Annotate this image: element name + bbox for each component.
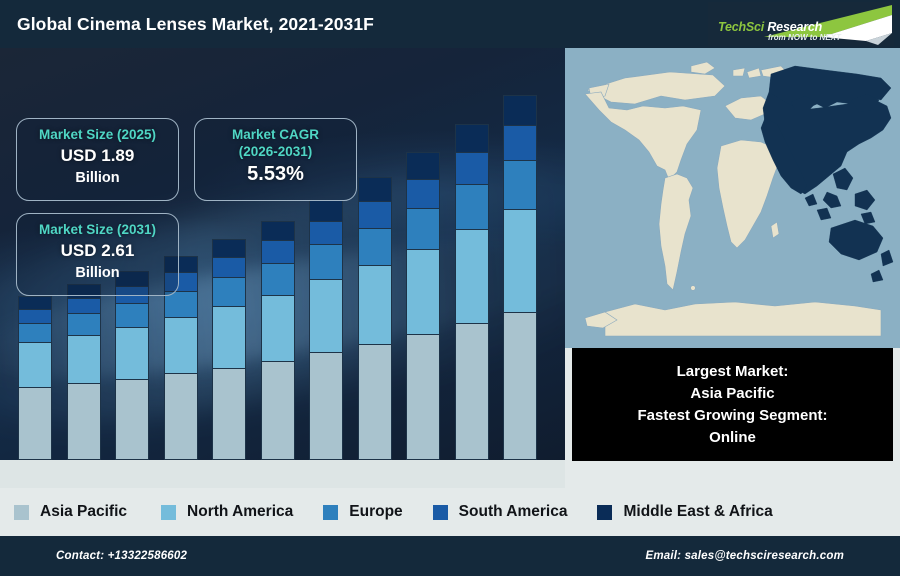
bar-segment-europe[interactable] [503, 160, 537, 209]
bar-2022[interactable] [67, 284, 101, 460]
bar-2025[interactable] [212, 239, 246, 460]
bar-segment-europe[interactable] [455, 184, 489, 229]
bar-segment-south-america[interactable] [309, 221, 343, 245]
footer-contact[interactable]: Contact: +13322586602 [56, 550, 187, 562]
bar-2030F[interactable] [455, 124, 489, 460]
bar-2027F[interactable] [309, 200, 343, 460]
legend-item-europe[interactable]: Europe [323, 503, 402, 521]
bar-segment-north-america[interactable] [261, 295, 295, 361]
bar-segment-south-america[interactable] [455, 152, 489, 184]
bar-segment-asia-pacific[interactable] [261, 361, 295, 460]
bar-segment-asia-pacific[interactable] [406, 334, 440, 460]
bar-segment-north-america[interactable] [212, 306, 246, 368]
legend-swatch-icon [433, 505, 448, 520]
bar-segment-middle-east-africa[interactable] [455, 124, 489, 152]
bar-segment-middle-east-africa[interactable] [406, 152, 440, 179]
stat-label: Market CAGR [195, 126, 356, 143]
legend-item-asia-pacific[interactable]: Asia Pacific [14, 503, 127, 521]
bar-segment-asia-pacific[interactable] [164, 373, 198, 460]
bar-segment-europe[interactable] [18, 323, 52, 343]
bar-segment-asia-pacific[interactable] [309, 352, 343, 460]
stat-value: USD 2.61 [17, 238, 178, 263]
bar-segment-north-america[interactable] [115, 327, 149, 379]
info-largest-market-value: Asia Pacific [690, 383, 774, 404]
bar-segment-north-america[interactable] [309, 279, 343, 352]
legend-label: North America [187, 503, 293, 521]
bar-segment-middle-east-africa[interactable] [309, 200, 343, 221]
bar-segment-north-america[interactable] [455, 229, 489, 323]
bar-segment-south-america[interactable] [503, 125, 537, 160]
bar-segment-north-america[interactable] [406, 249, 440, 334]
bar-segment-middle-east-africa[interactable] [18, 296, 52, 309]
bar-segment-asia-pacific[interactable] [358, 344, 392, 460]
bar-segment-europe[interactable] [358, 228, 392, 266]
info-largest-market-label: Largest Market: [677, 361, 789, 382]
bar-segment-south-america[interactable] [406, 179, 440, 208]
bar-segment-europe[interactable] [261, 263, 295, 295]
legend-swatch-icon [597, 505, 612, 520]
x-axis-strip [0, 460, 565, 488]
legend-label: Europe [349, 503, 402, 521]
bar-segment-middle-east-africa[interactable] [261, 221, 295, 241]
legend-swatch-icon [14, 505, 29, 520]
bar-segment-north-america[interactable] [503, 209, 537, 311]
logo-wordmark: TechSci Research [718, 20, 822, 34]
bar-2029F[interactable] [406, 152, 440, 460]
legend-swatch-icon [161, 505, 176, 520]
info-fastest-segment-label: Fastest Growing Segment: [637, 405, 827, 426]
bar-segment-asia-pacific[interactable] [18, 387, 52, 460]
stat-card-market-size-2025: Market Size (2025) USD 1.89 Billion [16, 118, 179, 201]
logo-text-tech: TechSci [718, 20, 764, 34]
bar-segment-north-america[interactable] [164, 317, 198, 373]
chart-legend: Asia PacificNorth AmericaEuropeSouth Ame… [0, 488, 900, 536]
page-title: Global Cinema Lenses Market, 2021-2031F [17, 14, 374, 35]
stat-sublabel: (2026-2031) [195, 143, 356, 160]
logo-tagline: from NOW to NEXT [768, 33, 841, 42]
bar-segment-asia-pacific[interactable] [455, 323, 489, 460]
chart-panel: 202120222023202420252026E2027F2028F2029F… [0, 48, 565, 488]
bar-2028F[interactable] [358, 177, 392, 460]
brand-logo[interactable]: TechSci Research from NOW to NEXT [708, 2, 894, 46]
legend-label: Middle East & Africa [623, 503, 772, 521]
info-box-largest-market: Largest Market: Asia Pacific Fastest Gro… [572, 348, 893, 461]
bar-segment-south-america[interactable] [261, 240, 295, 262]
bar-segment-europe[interactable] [309, 244, 343, 279]
stat-card-market-size-2031: Market Size (2031) USD 2.61 Billion [16, 213, 179, 296]
bar-segment-asia-pacific[interactable] [503, 312, 537, 460]
bar-segment-south-america[interactable] [67, 298, 101, 313]
stat-value: USD 1.89 [17, 143, 178, 168]
bar-2021[interactable] [18, 296, 52, 460]
bar-2026E[interactable] [261, 221, 295, 460]
stat-label: Market Size (2025) [17, 126, 178, 143]
bar-segment-middle-east-africa[interactable] [503, 95, 537, 126]
bar-segment-south-america[interactable] [18, 309, 52, 323]
stat-card-market-cagr: Market CAGR (2026-2031) 5.53% [194, 118, 357, 201]
bar-segment-asia-pacific[interactable] [212, 368, 246, 460]
footer-bar: Contact: +13322586602 Email: sales@techs… [0, 536, 900, 576]
legend-item-north-america[interactable]: North America [161, 503, 293, 521]
bar-segment-asia-pacific[interactable] [67, 383, 101, 460]
bar-segment-north-america[interactable] [67, 335, 101, 383]
bar-segment-europe[interactable] [115, 303, 149, 327]
legend-label: South America [459, 503, 568, 521]
bar-2023[interactable] [115, 271, 149, 460]
stat-unit: Billion [17, 263, 178, 284]
logo-text-research: Research [767, 20, 822, 34]
bar-segment-middle-east-africa[interactable] [212, 239, 246, 257]
bar-segment-south-america[interactable] [358, 201, 392, 228]
stat-label: Market Size (2031) [17, 221, 178, 238]
bar-segment-asia-pacific[interactable] [115, 379, 149, 460]
bar-segment-south-america[interactable] [212, 257, 246, 277]
header-bar: Global Cinema Lenses Market, 2021-2031F … [0, 0, 900, 48]
world-map [565, 48, 900, 348]
bar-segment-north-america[interactable] [358, 265, 392, 343]
stat-unit: Billion [17, 168, 178, 189]
stat-value: 5.53% [195, 160, 356, 188]
bar-segment-europe[interactable] [406, 208, 440, 249]
bar-segment-europe[interactable] [67, 313, 101, 335]
footer-email[interactable]: Email: sales@techsciresearch.com [645, 550, 844, 562]
legend-label: Asia Pacific [40, 503, 127, 521]
bar-segment-north-america[interactable] [18, 342, 52, 387]
legend-item-middle-east-africa[interactable]: Middle East & Africa [597, 503, 772, 521]
bar-segment-middle-east-africa[interactable] [358, 177, 392, 201]
world-map-svg [565, 48, 900, 348]
legend-item-south-america[interactable]: South America [433, 503, 568, 521]
legend-swatch-icon [323, 505, 338, 520]
bar-segment-europe[interactable] [212, 277, 246, 306]
bar-2031F[interactable] [503, 95, 537, 460]
info-fastest-segment-value: Online [709, 427, 756, 448]
